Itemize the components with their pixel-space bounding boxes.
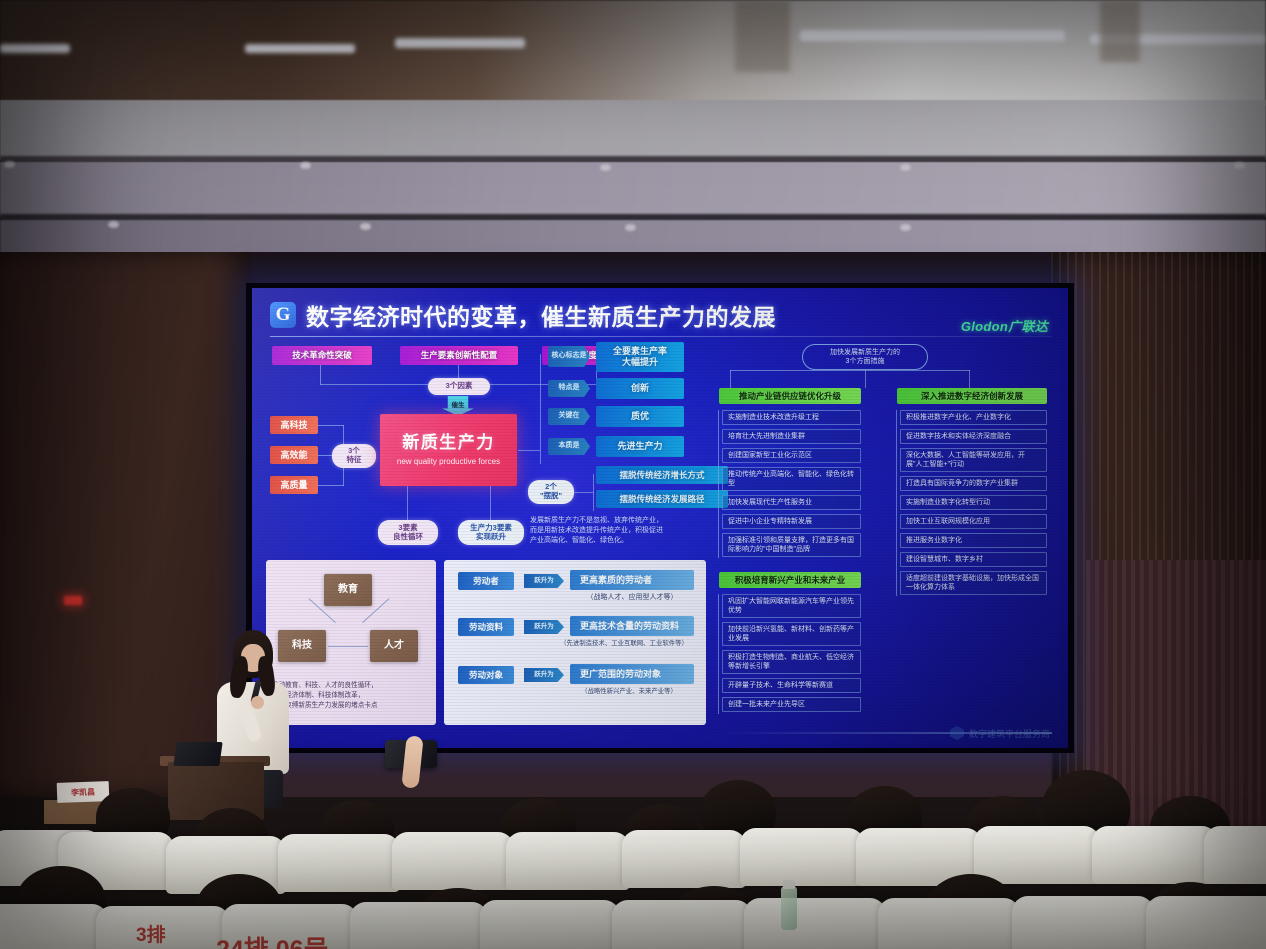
connector: [574, 492, 594, 493]
glodon-logo-icon: G: [270, 302, 296, 328]
element-from-2: 劳动对象: [458, 666, 514, 684]
measure-item: 推进服务业数字化: [900, 533, 1047, 548]
element-note-2: （战略性新兴产业、未来产业等）: [562, 686, 696, 698]
attr-value-0: 全要素生产率 大幅提升: [596, 342, 684, 372]
laptop: [173, 742, 222, 766]
measures-hub: 加快发展新质生产力的 3个方面措施: [802, 344, 928, 370]
connector: [730, 370, 970, 371]
presenter-hand: [251, 696, 264, 709]
projection-screen: G 数字经济时代的变革，催生新质生产力的发展 Glodon广联达 技术革命性突破…: [252, 288, 1068, 748]
element-from-0: 劳动者: [458, 572, 514, 590]
triangle-node-top: 教育: [324, 574, 372, 606]
bottom-hub-0: 3要素 良性循环: [378, 520, 438, 545]
connector: [718, 410, 719, 558]
triangle-edge: [328, 646, 368, 647]
seat: [740, 828, 864, 886]
slide-header: G 数字经济时代的变革，催生新质生产力的发展 Glodon广联达: [270, 298, 1052, 336]
escape-hub: 2个 "摆脱": [528, 480, 574, 504]
element-arrow-2: 跃升为: [524, 668, 564, 682]
auditorium-photo: G 数字经济时代的变革，催生新质生产力的发展 Glodon广联达 技术革命性突破…: [0, 0, 1266, 949]
wall-middle: [0, 162, 1266, 217]
element-to-2: 更广范围的劳动对象: [570, 664, 694, 684]
measure-item: 加快前沿新兴氢能、新材料、创新药等产业发展: [722, 622, 861, 646]
wall-fixture: [900, 164, 911, 171]
ceiling-light: [0, 44, 70, 53]
seat: [0, 904, 108, 949]
measure-item: 巩固扩大智能网联新能源汽车等产业领先优势: [722, 594, 861, 618]
seat: [1146, 896, 1266, 949]
seat: [1204, 826, 1266, 884]
connector: [969, 370, 970, 388]
attr-value-3: 先进生产力: [596, 436, 684, 457]
attr-tag-0: 核心标志是: [548, 346, 590, 367]
seat: [974, 826, 1100, 884]
bottle-cap: [783, 880, 795, 889]
seat: [1092, 826, 1218, 884]
seat-label: 24排 06号: [216, 930, 329, 949]
measure-item: 培育壮大先进制造业集群: [722, 429, 861, 444]
drivers-hub: 3个因素: [428, 378, 490, 395]
header-divider: [270, 336, 1052, 337]
audience-area: 3排 24排 06号: [0, 770, 1266, 949]
exit-light: [64, 596, 82, 605]
wall-fixture: [108, 221, 119, 228]
element-to-0: 更高素质的劳动者: [570, 570, 694, 590]
seat: [278, 834, 400, 892]
wall-upper: [0, 100, 1266, 160]
connector: [718, 594, 719, 714]
measure-header-1: 积极培育新兴产业和未来产业: [719, 572, 861, 588]
wall-fixture: [625, 224, 636, 231]
triangle-node-right: 人才: [370, 630, 418, 662]
measure-item: 打造具有国际竞争力的数字产业集群: [900, 476, 1047, 491]
element-note-0: （战略人才、应用型人才等）: [570, 592, 694, 604]
attr-value-2: 质优: [596, 406, 684, 427]
seat: [878, 898, 1020, 949]
seat: [480, 900, 620, 949]
measure-item: 促进数字技术和实体经济深度融合: [900, 429, 1047, 444]
measure-item: 积极打造生物制造、商业航天、低空经济等新增长引擎: [722, 650, 861, 674]
bottom-hub-label-0: 3要素 良性循环: [393, 524, 423, 542]
element-note-1: （先进制造技术、工业互联网、工业软件等）: [552, 638, 696, 650]
escape-box-0: 摆脱传统经济增长方式: [596, 466, 728, 484]
ceiling-light: [245, 44, 355, 53]
element-arrow-1: 跃升为: [524, 620, 564, 634]
water-bottle: [781, 886, 797, 930]
catalyze-arrow: 催生: [442, 396, 474, 416]
attr-tag-3: 本质是: [548, 438, 590, 455]
connector: [896, 410, 897, 596]
bottom-hub-1: 生产力3要素 实现跃升: [458, 520, 524, 545]
features-hub-label: 3个 特征: [347, 447, 362, 465]
triangle-note: 推动教育、科技、人才的良性循环， 深化经济体制、科技体制改革， 打通束缚新质生产…: [272, 674, 430, 718]
wall-fixture: [600, 164, 611, 171]
core-concept-box: 新质生产力 new quality productive forces: [380, 414, 517, 486]
attr-tag-label-0: 核心标志是: [552, 352, 587, 360]
ceiling-beam: [1100, 0, 1140, 62]
measure-item: 适度超前建设数字基础设施，加快形成全国一体化算力体系: [900, 571, 1047, 595]
seat: [350, 902, 488, 949]
seat: [744, 898, 886, 949]
measure-item: 积极推进数字产业化、产业数字化: [900, 410, 1047, 425]
measure-item: 建设智慧城市、数字乡村: [900, 552, 1047, 567]
seat: [612, 900, 752, 949]
wall-fixture: [1234, 162, 1245, 169]
measure-item: 推动传统产业高端化、智能化、绿色化转型: [722, 467, 861, 491]
brand-logo: Glodon广联达: [961, 316, 1048, 335]
features-hub: 3个 特征: [332, 444, 376, 468]
core-title-cn: 新质生产力: [402, 433, 495, 453]
seat: [506, 832, 630, 890]
measures-hub-label: 加快发展新质生产力的 3个方面措施: [830, 348, 900, 366]
attr-value-1: 创新: [596, 378, 684, 399]
watermark-text: 数字建筑平台服务商: [969, 727, 1050, 740]
connector: [540, 354, 541, 464]
slide-title: 数字经济时代的变革，催生新质生产力的发展: [306, 298, 776, 332]
connector: [865, 370, 866, 388]
cube-icon: [950, 726, 964, 740]
connector: [593, 474, 594, 511]
element-arrow-0: 跃升为: [524, 574, 564, 588]
attr-tag-1: 特点是: [548, 380, 590, 397]
measure-item: 促进中小企业专精特新发展: [722, 514, 861, 529]
wall-fixture: [4, 161, 15, 168]
driver-box-0: 技术革命性突破: [272, 346, 372, 365]
connector: [318, 425, 344, 426]
driver-box-1: 生产要素创新性配置: [400, 346, 518, 365]
feature-box-1: 高效能: [270, 446, 318, 464]
measure-item: 加强标准引领和质量支撑，打造更多有国际影响力的"中国制造"品牌: [722, 533, 861, 557]
ceiling-beam: [735, 0, 790, 72]
measure-item: 实施制造业技术改造升级工程: [722, 410, 861, 425]
connector: [318, 485, 344, 486]
ceiling: [0, 0, 1266, 105]
measure-item: 创建一批未来产业先导区: [722, 697, 861, 712]
escape-note: 发展新质生产力不是忽视、放弃传统产业， 而是用新技术改造提升传统产业，积极促进 …: [530, 514, 728, 548]
core-title-en: new quality productive forces: [397, 457, 500, 466]
bottom-hub-label-1: 生产力3要素 实现跃升: [470, 524, 512, 542]
ceiling-light: [800, 30, 1065, 41]
seat: [392, 832, 514, 890]
feature-box-2: 高质量: [270, 476, 318, 494]
measure-item: 加快工业互联网规模化应用: [900, 514, 1047, 529]
measure-item: 开辟量子技术、生命科学等新赛道: [722, 678, 861, 693]
seat: [622, 830, 746, 888]
connector: [320, 365, 321, 385]
attr-tag-2: 关键在: [548, 408, 590, 425]
watermark: 数字建筑平台服务商: [950, 726, 1050, 740]
connector: [518, 450, 540, 451]
element-to-1: 更高技术含量的劳动资料: [570, 616, 694, 636]
measure-item: 创建国家新型工业化示范区: [722, 448, 861, 463]
ceiling-light: [395, 38, 525, 48]
connector: [730, 370, 731, 388]
measure-item: 加快发展现代生产性服务业: [722, 495, 861, 510]
wall-fixture: [360, 223, 371, 230]
measure-item: 深化大数据、人工智能等研发应用，开展"人工智能+"行动: [900, 448, 1047, 472]
seat-label: 3排: [136, 920, 166, 947]
escape-hub-label: 2个 "摆脱": [540, 483, 562, 501]
wall-fixture: [300, 162, 311, 169]
measure-header-0: 推动产业链供应链优化升级: [719, 388, 861, 404]
escape-note-text: 发展新质生产力不是忽视、放弃传统产业， 而是用新技术改造提升传统产业，积极促进 …: [530, 516, 663, 546]
feature-box-0: 高科技: [270, 416, 318, 434]
wall-fixture: [900, 224, 911, 231]
measure-header-2: 深入推进数字经济创新发展: [897, 388, 1047, 404]
element-from-1: 劳动资料: [458, 618, 514, 636]
seat: [1012, 896, 1154, 949]
escape-box-1: 摆脱传统经济发展路径: [596, 490, 728, 508]
measure-item: 实施制造业数字化转型行动: [900, 495, 1047, 510]
attr-value-label-0: 全要素生产率 大幅提升: [613, 346, 667, 367]
